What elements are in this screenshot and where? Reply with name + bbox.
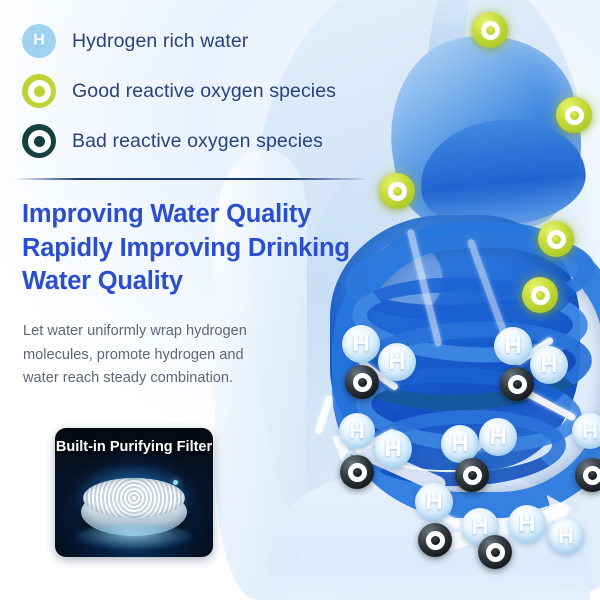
sparkle-icon (173, 480, 178, 485)
ring-glyph (353, 373, 372, 392)
filter-disc-base-glow (75, 524, 193, 550)
hydrogen-molecule-icon: H (530, 346, 568, 384)
ring-glyph (28, 130, 51, 153)
infographic-poster: HHHHHHHHHHHHH H Hydrogen rich water Good… (0, 0, 600, 600)
section-divider (14, 178, 366, 180)
good-oxygen-molecule-icon (379, 173, 415, 209)
good-oxygen-molecule-icon (538, 221, 574, 257)
legend-item-bad-ros[interactable]: Bad reactive oxygen species (22, 118, 382, 164)
good-ros-badge-icon (22, 74, 56, 108)
ring-glyph (388, 182, 407, 201)
legend-label: Good reactive oxygen species (72, 80, 336, 103)
legend-label: Hydrogen rich water (72, 30, 248, 53)
filter-product-card[interactable]: Built-in Purifying Filter (55, 428, 213, 557)
headline-line-3: Water Quality (22, 265, 372, 299)
ring-glyph (28, 80, 51, 103)
ring-glyph (508, 375, 527, 394)
hydrogen-molecule-icon: H (508, 505, 546, 543)
bad-oxygen-molecule-icon (340, 455, 374, 489)
hydrogen-badge-icon: H (22, 24, 56, 58)
ring-glyph (583, 466, 600, 485)
description-paragraph: Let water uniformly wrap hydrogen molecu… (23, 320, 278, 391)
hydrogen-molecule-icon: H (494, 327, 532, 365)
ring-glyph (486, 543, 505, 562)
bad-oxygen-molecule-icon (345, 365, 379, 399)
legend-item-hydrogen[interactable]: H Hydrogen rich water (22, 18, 382, 64)
bad-oxygen-molecule-icon (500, 367, 534, 401)
legend-symbol: H (33, 32, 45, 50)
headline-line-1: Improving Water Quality (22, 198, 372, 232)
legend-label: Bad reactive oxygen species (72, 130, 323, 153)
good-oxygen-molecule-icon (522, 277, 558, 313)
bad-oxygen-molecule-icon (478, 535, 512, 569)
hydrogen-molecule-icon: H (378, 343, 416, 381)
page-title: Improving Water Quality Rapidly Improvin… (22, 198, 372, 299)
hydrogen-molecule-icon: H (339, 413, 375, 449)
bad-oxygen-molecule-icon (418, 523, 452, 557)
hydrogen-molecule-icon: H (479, 418, 517, 456)
hydrogen-molecule-icon: H (572, 413, 600, 449)
ring-glyph (565, 106, 584, 125)
ring-glyph (426, 531, 445, 550)
filter-disc-mesh (83, 478, 185, 518)
hydrogen-molecule-icon: H (548, 518, 584, 554)
hydrogen-molecule-icon: H (374, 430, 412, 468)
ring-glyph (463, 466, 482, 485)
bad-oxygen-molecule-icon (455, 458, 489, 492)
ring-glyph (547, 230, 566, 249)
hydrogen-molecule-icon: H (342, 325, 380, 363)
bad-ros-badge-icon (22, 124, 56, 158)
headline-line-2: Rapidly Improving Drinking (22, 232, 372, 266)
legend-item-good-ros[interactable]: Good reactive oxygen species (22, 68, 382, 114)
ring-glyph (531, 286, 550, 305)
filter-card-title: Built-in Purifying Filter (55, 439, 213, 455)
ring-glyph (348, 463, 367, 482)
good-oxygen-molecule-icon (472, 12, 508, 48)
legend: H Hydrogen rich water Good reactive oxyg… (22, 18, 382, 168)
hydrogen-molecule-icon: H (415, 483, 453, 521)
ring-glyph (481, 21, 500, 40)
good-oxygen-molecule-icon (556, 97, 592, 133)
